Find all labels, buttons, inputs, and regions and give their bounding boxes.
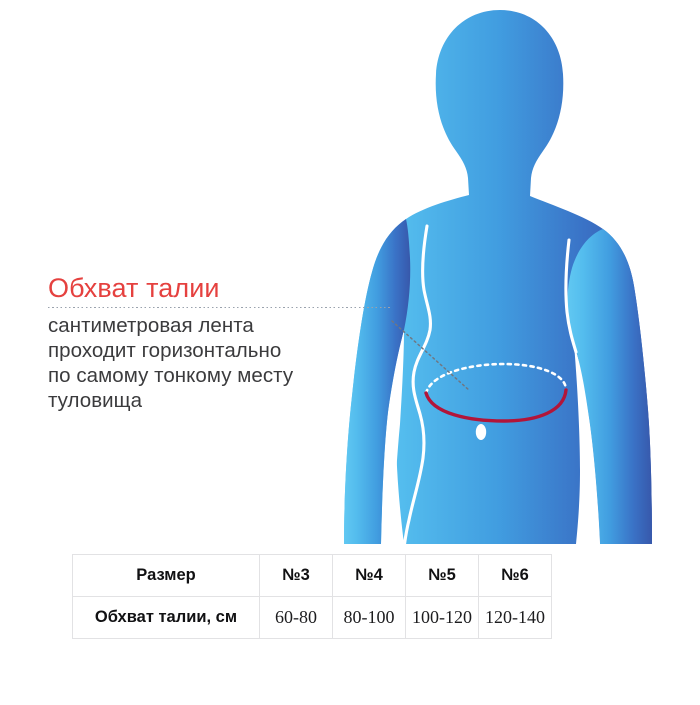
navel [476, 424, 486, 440]
annotation-dotted-rule [48, 307, 392, 308]
annotation-block: Обхват талии сантиметровая лента проходи… [48, 274, 408, 413]
table-row-header: Размер №3 №4 №5 №6 [73, 555, 552, 597]
table-header-size-3: №5 [406, 555, 479, 597]
table-cell-waist-3: 100-120 [406, 597, 479, 639]
table-cell-waist-4: 120-140 [479, 597, 552, 639]
table-cell-waist-2: 80-100 [333, 597, 406, 639]
annotation-title: Обхват талии [48, 274, 408, 303]
annotation-body: сантиметровая лента проходит горизонталь… [48, 313, 408, 413]
table-row-waist: Обхват талии, см 60-80 80-100 100-120 12… [73, 597, 552, 639]
annotation-body-line-2: проходит горизонтально [48, 338, 408, 363]
annotation-body-line-1: сантиметровая лента [48, 313, 408, 338]
size-table: Размер №3 №4 №5 №6 Обхват талии, см 60-8… [72, 554, 552, 639]
infographic-page: Обхват талии сантиметровая лента проходи… [0, 0, 700, 700]
annotation-body-line-4: туловища [48, 388, 408, 413]
annotation-body-line-3: по самому тонкому месту [48, 363, 408, 388]
table-row-waist-label: Обхват талии, см [73, 597, 260, 639]
size-table-container: Размер №3 №4 №5 №6 Обхват талии, см 60-8… [72, 554, 552, 639]
table-header-size-2: №4 [333, 555, 406, 597]
table-cell-waist-1: 60-80 [260, 597, 333, 639]
table-header-size-4: №6 [479, 555, 552, 597]
table-header-size-1: №3 [260, 555, 333, 597]
table-header-label: Размер [73, 555, 260, 597]
